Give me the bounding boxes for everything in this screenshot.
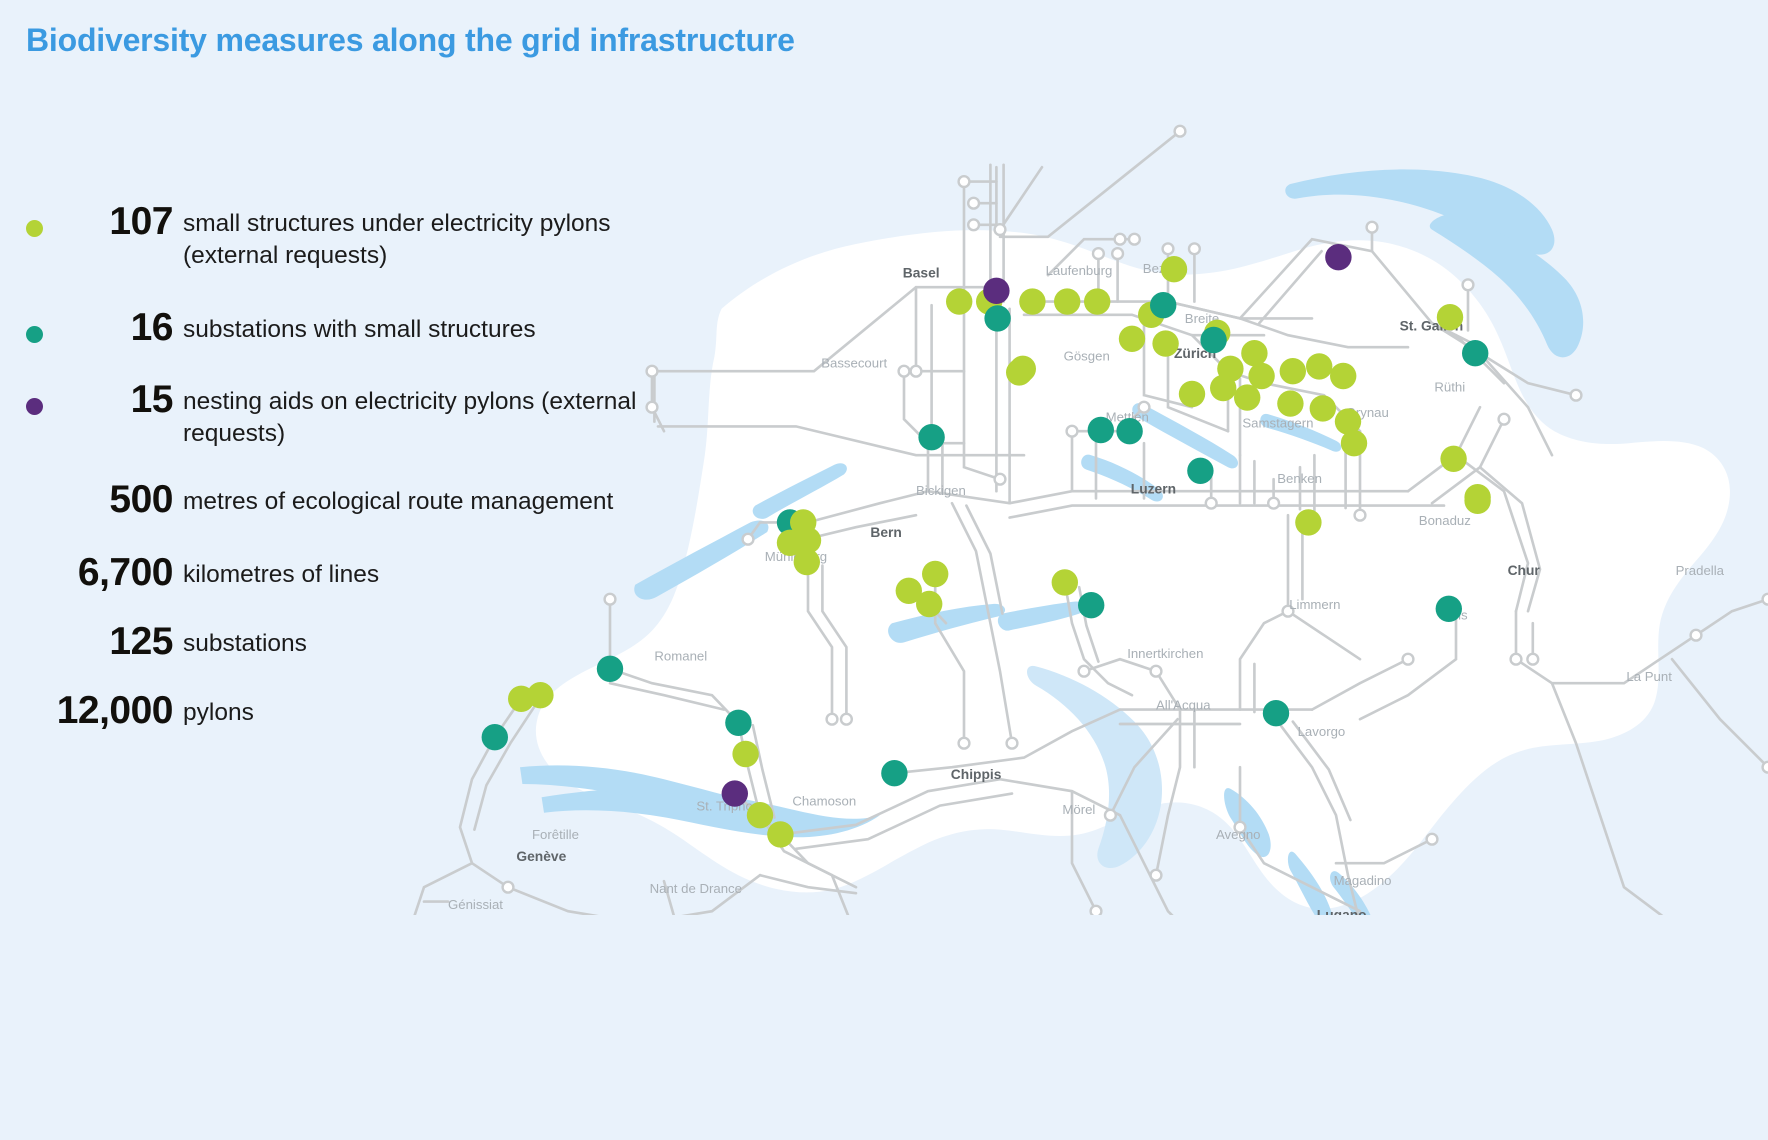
map-label-pradella: Pradella	[1676, 563, 1725, 578]
map-label-gen-ve: Genève	[516, 849, 566, 864]
map-marker-purple	[722, 780, 748, 806]
stat-number: 15	[68, 378, 173, 419]
map-marker-teal	[1436, 596, 1462, 622]
map-marker-lime	[1119, 326, 1145, 352]
stat-number: 16	[68, 306, 173, 347]
map-marker-lime	[1310, 395, 1336, 421]
map-marker-lime	[732, 741, 758, 767]
map-marker-lime	[922, 561, 948, 587]
stat-row-substations: 125 substations	[0, 620, 700, 661]
map-marker-lime	[1440, 446, 1466, 472]
stat-label: substations with small structures	[173, 306, 536, 346]
map-marker-lime	[1054, 288, 1080, 314]
map-marker-lime	[1234, 384, 1260, 410]
map-marker-purple	[983, 278, 1009, 304]
stat-number: 107	[68, 200, 173, 241]
map-label-chippis: Chippis	[951, 767, 1002, 782]
stat-label: small structures under electricity pylon…	[173, 200, 700, 273]
infographic-root: Biodiversity measures along the grid inf…	[0, 0, 1768, 1140]
map-marker-teal	[1462, 340, 1488, 366]
map-marker-teal	[1187, 458, 1213, 484]
map-marker-teal	[1263, 700, 1289, 726]
stat-label: metres of ecological route management	[173, 478, 613, 518]
map-label-m-rel: Mörel	[1062, 802, 1095, 817]
stat-label: nesting aids on electricity pylons (exte…	[173, 378, 700, 451]
stat-row-pylons: 12,000 pylons	[0, 689, 700, 730]
map-marker-lime	[1464, 488, 1490, 514]
map-label-bickigen: Bickigen	[916, 483, 966, 498]
map-marker-lime	[1330, 363, 1356, 389]
map-label-la-punt: La Punt	[1626, 669, 1672, 684]
map-marker-teal	[1088, 417, 1114, 443]
map-marker-lime	[767, 821, 793, 847]
map-label-limmern: Limmern	[1289, 597, 1340, 612]
map-marker-teal	[725, 710, 751, 736]
map-marker-lime	[1306, 353, 1332, 379]
map-marker-lime	[1341, 430, 1367, 456]
map-marker-lime	[946, 288, 972, 314]
map-marker-lime	[1277, 390, 1303, 416]
map-label-bern: Bern	[870, 525, 901, 540]
map-marker-lime	[1019, 288, 1045, 314]
map-label-g-sgen: Gösgen	[1064, 348, 1110, 363]
map-marker-teal	[918, 424, 944, 450]
bullet-cell-empty	[0, 620, 68, 640]
map-label-lavorgo: Lavorgo	[1298, 724, 1346, 739]
map-label-g-nissiat: Génissiat	[448, 897, 503, 912]
map-marker-lime	[1161, 256, 1187, 282]
bullet-cell	[0, 306, 68, 343]
map-marker-lime	[747, 802, 773, 828]
map-label-avegno: Avegno	[1216, 827, 1261, 842]
map-marker-teal	[1078, 592, 1104, 618]
map-marker-teal	[881, 760, 907, 786]
map-label-nant-de-drance: Nant de Drance	[650, 881, 742, 896]
map-label-magadino: Magadino	[1334, 873, 1392, 888]
map-marker-lime	[1295, 509, 1321, 535]
legend-bullet-teal-icon	[26, 326, 43, 343]
map-marker-lime	[1210, 375, 1236, 401]
map-label-laufenburg: Laufenburg	[1046, 263, 1113, 278]
legend-bullet-purple-icon	[26, 398, 43, 415]
page-title: Biodiversity measures along the grid inf…	[26, 22, 795, 59]
stat-row-ecological-route: 500 metres of ecological route managemen…	[0, 478, 700, 519]
map-label-r-thi: Rüthi	[1434, 380, 1465, 395]
map-marker-teal	[1200, 327, 1226, 353]
map-label-bonaduz: Bonaduz	[1419, 513, 1471, 528]
map-marker-lime	[1084, 288, 1110, 314]
map-label-chur: Chur	[1508, 563, 1541, 578]
stat-label: substations	[173, 620, 307, 660]
map-label-bassecourt: Bassecourt	[821, 356, 887, 371]
map-label-for-tille: Forêtille	[532, 827, 579, 842]
map-marker-lime	[1006, 359, 1032, 385]
stat-row-small-structures: 107 small structures under electricity p…	[0, 200, 700, 273]
bullet-cell-empty	[0, 478, 68, 498]
bullet-cell	[0, 378, 68, 415]
map-marker-lime	[1437, 304, 1463, 330]
map-marker-lime	[1179, 381, 1205, 407]
map-marker-lime	[1241, 340, 1267, 366]
map-marker-lime	[916, 591, 942, 617]
map-marker-teal	[1150, 292, 1176, 318]
map-label-all-acqua: All'Acqua	[1156, 698, 1211, 713]
stat-number: 12,000	[0, 689, 173, 730]
stat-number: 6,700	[0, 551, 173, 592]
stats-legend: 107 small structures under electricity p…	[0, 200, 700, 730]
map-label-basel: Basel	[903, 266, 940, 281]
map-marker-lime	[1052, 569, 1078, 595]
map-marker-lime	[1280, 358, 1306, 384]
map-marker-teal	[1116, 418, 1142, 444]
stat-number: 125	[68, 620, 173, 661]
stat-row-substations-small-structures: 16 substations with small structures	[0, 306, 700, 347]
map-marker-lime	[794, 549, 820, 575]
map-label-chamoson: Chamoson	[792, 794, 856, 809]
stat-label: kilometres of lines	[173, 551, 379, 591]
map-label-lugano: Lugano	[1317, 908, 1367, 915]
stat-number: 500	[68, 478, 173, 519]
legend-bullet-lime-icon	[26, 220, 43, 237]
map-label-innertkirchen: Innertkirchen	[1127, 646, 1203, 661]
map-marker-lime	[1152, 330, 1178, 356]
map-label-luzern: Luzern	[1131, 482, 1176, 497]
map-marker-teal	[984, 305, 1010, 331]
stat-label: pylons	[173, 689, 254, 729]
stat-row-nesting-aids: 15 nesting aids on electricity pylons (e…	[0, 378, 700, 451]
map-marker-lime	[1248, 363, 1274, 389]
map-marker-purple	[1325, 244, 1351, 270]
map-label-samstagern: Samstagern	[1242, 416, 1313, 431]
stat-row-kilometres-lines: 6,700 kilometres of lines	[0, 551, 700, 592]
map-label-benken: Benken	[1277, 471, 1322, 486]
bullet-cell	[0, 200, 68, 237]
